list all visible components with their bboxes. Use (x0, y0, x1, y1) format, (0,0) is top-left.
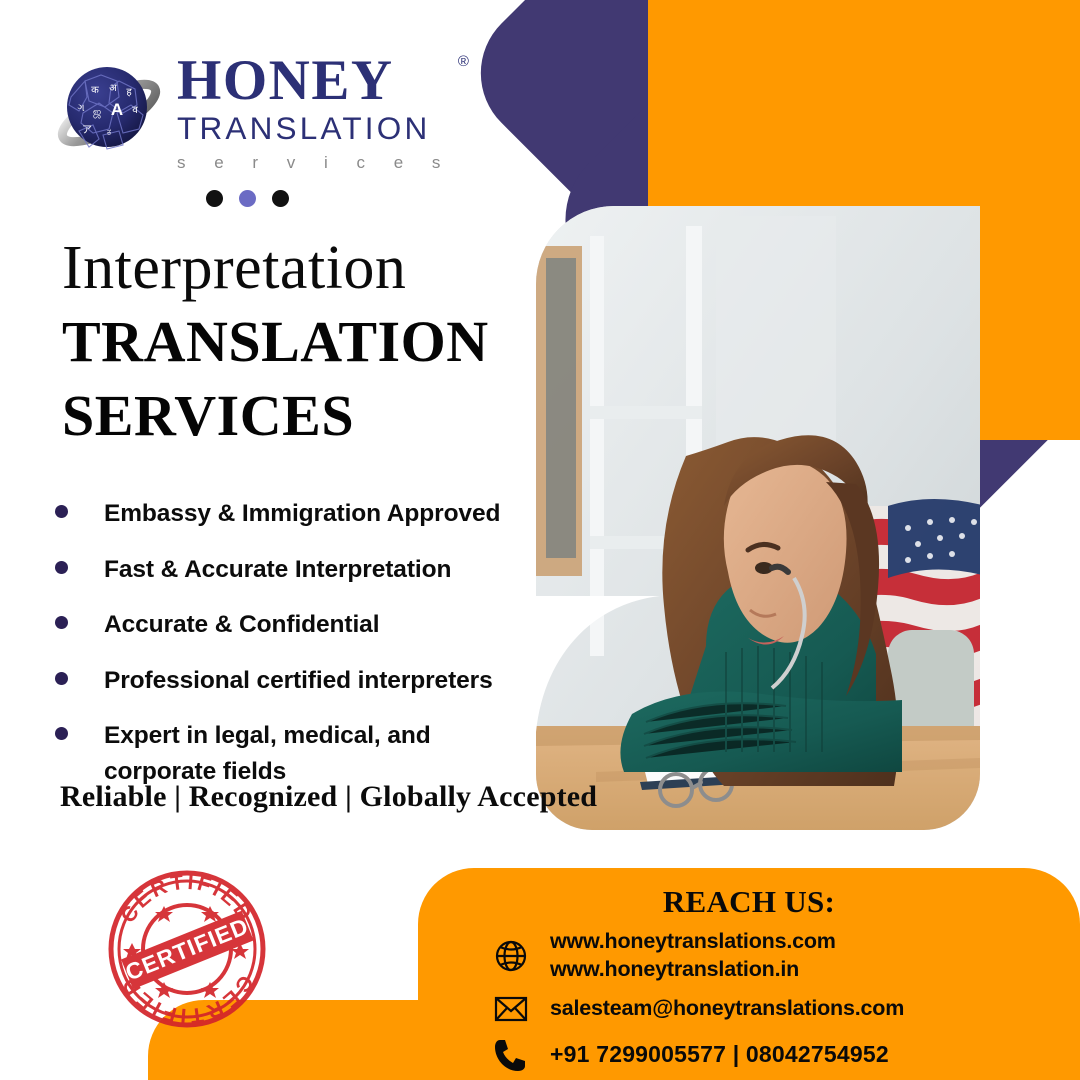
contact-row-email[interactable]: salesteam@honeytranslations.com (492, 990, 904, 1028)
svg-text:ಕ: ಕ (107, 127, 112, 138)
headline-script: Interpretation (62, 236, 489, 301)
dot-right (272, 190, 289, 207)
logo-subline: TRANSLATION (177, 113, 452, 145)
brand-logo: क अ ह ગ ஜ व ア ಕ A HONEY ® TRANSLATION s … (55, 48, 452, 171)
headline-block: Interpretation TRANSLATION SERVICES (62, 236, 489, 448)
bullet-dot-icon (55, 561, 68, 574)
logo-name: HONEY ® (177, 52, 452, 109)
bullet-dot-icon (55, 672, 68, 685)
phone-label: +91 7299005577 | 08042754952 (550, 1040, 889, 1069)
svg-text:ア: ア (82, 125, 92, 136)
bullet-dot-icon (55, 616, 68, 629)
list-item-label: Professional certified interpreters (104, 663, 493, 699)
list-item: Accurate & Confidential (55, 607, 525, 643)
phone-icon (492, 1036, 530, 1074)
bullet-dot-icon (55, 727, 68, 740)
list-item-label: Accurate & Confidential (104, 607, 379, 643)
svg-text:अ: अ (109, 83, 117, 94)
dot-left (206, 190, 223, 207)
certified-stamp-icon: CERTIFIED CERTIFIED CERTIFIED (104, 866, 270, 1032)
svg-text:व: व (132, 105, 138, 116)
contact-block: REACH US: www.honeytranslations.com www.… (418, 868, 1080, 1080)
list-item: Fast & Accurate Interpretation (55, 552, 525, 588)
headline-main-line2: SERVICES (62, 383, 489, 449)
registered-mark: ® (458, 54, 471, 69)
envelope-icon (492, 990, 530, 1028)
svg-text:क: क (91, 85, 99, 96)
hero-photo (536, 206, 980, 830)
website-2: www.honeytranslation.in (550, 957, 799, 981)
website-1: www.honeytranslations.com (550, 929, 836, 953)
svg-text:A: A (111, 100, 123, 119)
list-item-label: Embassy & Immigration Approved (104, 496, 500, 532)
list-item: Embassy & Immigration Approved (55, 496, 525, 532)
logo-services-line: s e r v i c e s (177, 154, 452, 171)
list-item: Professional certified interpreters (55, 663, 525, 699)
svg-text:ह: ह (126, 87, 132, 98)
logo-dots (206, 190, 289, 207)
contact-row-website[interactable]: www.honeytranslations.com www.honeytrans… (492, 928, 836, 983)
logo-name-text: HONEY (177, 49, 394, 112)
reach-us-heading: REACH US: (418, 884, 1080, 920)
orange-shape-top-fill (648, 0, 948, 240)
contact-row-phone[interactable]: +91 7299005577 | 08042754952 (492, 1036, 889, 1074)
feature-list: Embassy & Immigration Approved Fast & Ac… (55, 496, 525, 809)
list-item: Expert in legal, medical, and corporate … (55, 718, 525, 789)
svg-text:ગ: ગ (77, 103, 84, 114)
tagline: Reliable | Recognized | Globally Accepte… (60, 780, 597, 814)
poster-canvas: क अ ह ગ ஜ व ア ಕ A HONEY ® TRANSLATION s … (0, 0, 1080, 1080)
email-label: salesteam@honeytranslations.com (550, 995, 904, 1023)
globe-languages-icon: क अ ह ગ ஜ व ア ಕ A (55, 55, 163, 163)
globe-icon (492, 937, 530, 975)
dot-middle (239, 190, 256, 207)
list-item-label: Expert in legal, medical, and corporate … (104, 718, 484, 789)
bullet-dot-icon (55, 505, 68, 518)
headline-main-line1: TRANSLATION (62, 309, 489, 375)
logo-wordmark: HONEY ® TRANSLATION s e r v i c e s (177, 48, 452, 171)
list-item-label: Fast & Accurate Interpretation (104, 552, 451, 588)
svg-text:ஜ: ஜ (93, 107, 101, 118)
website-labels: www.honeytranslations.com www.honeytrans… (550, 928, 836, 983)
